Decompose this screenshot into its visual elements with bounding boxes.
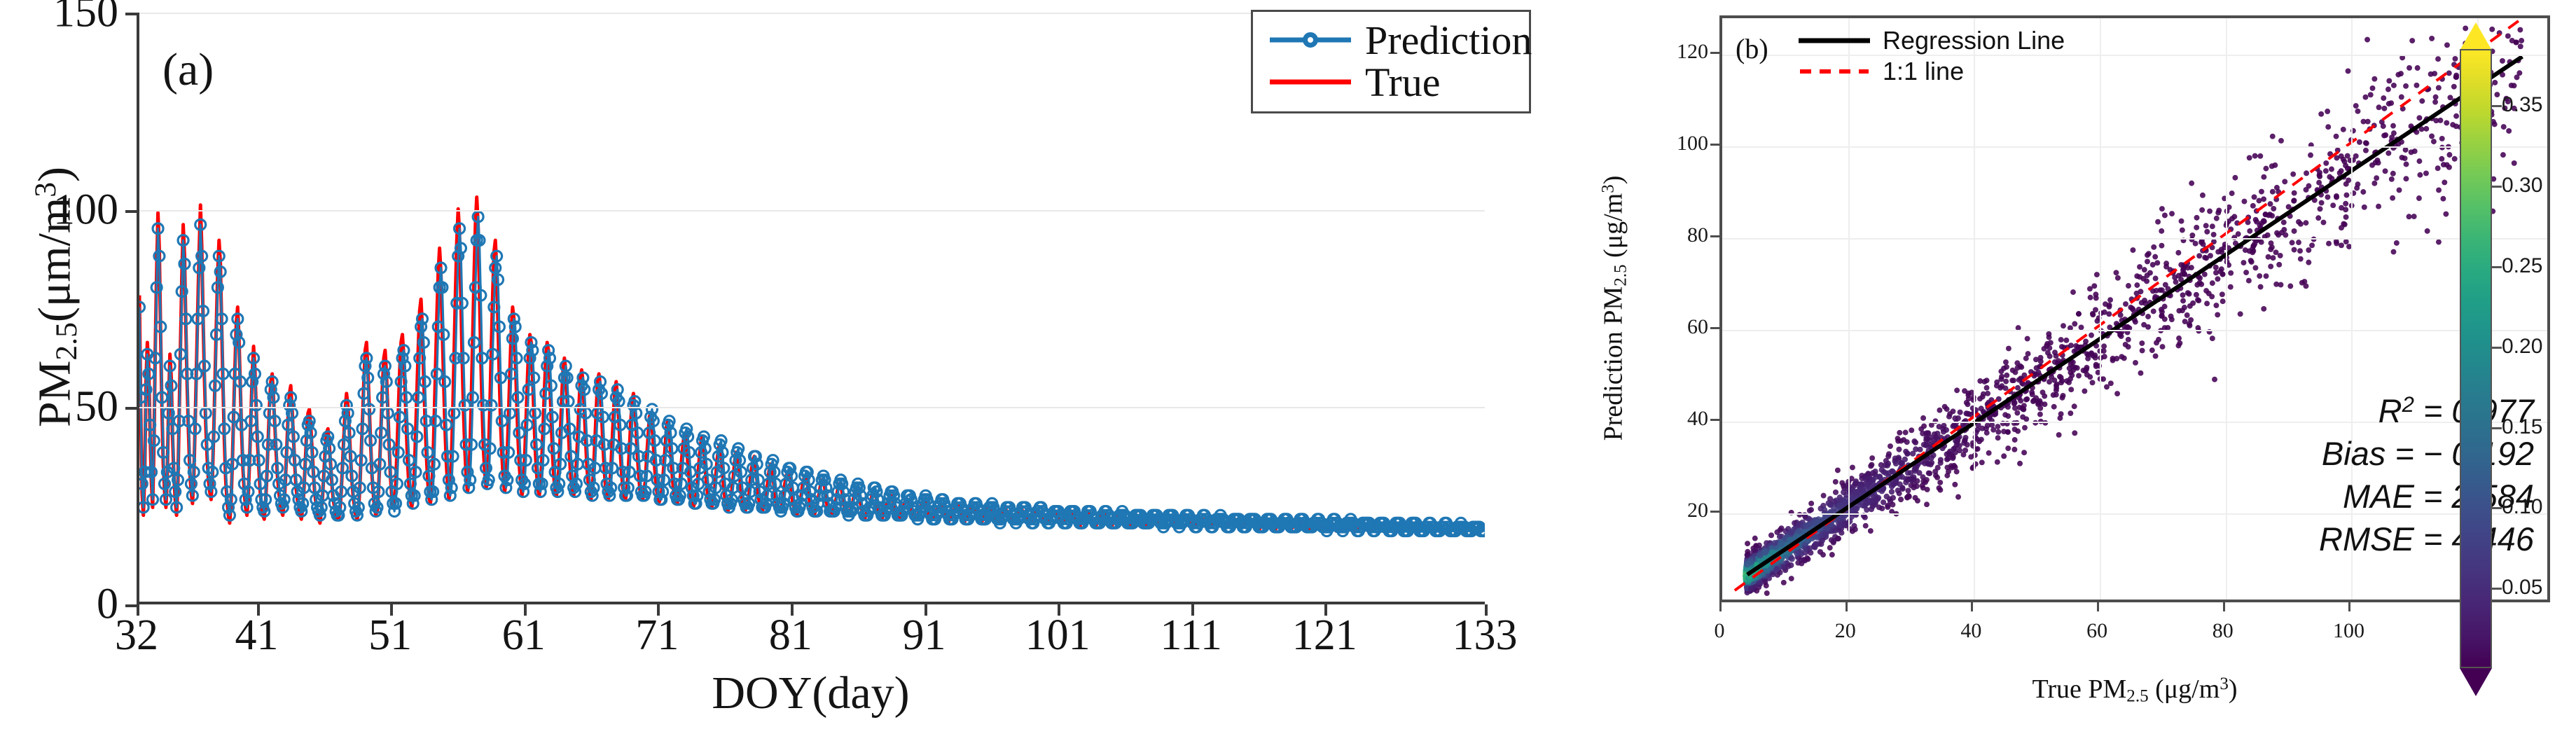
colorbar-tick: 0.25 (2502, 254, 2542, 278)
colorbar-tick: 0.35 (2502, 93, 2542, 117)
colorbar-extend-max (2460, 22, 2492, 50)
panel-b-gridline (1722, 238, 2547, 240)
panel-a-timeseries: 050100150 (a) 32415161718191101111121133… (0, 0, 1548, 748)
panel-b-x-tick-marks (1719, 602, 2550, 611)
panel-b-y-tick: 120 (1677, 40, 1708, 64)
legend-item-regression-line[interactable]: Regression Line (1793, 25, 2065, 56)
panel-a-ylabel-prefix: PM (29, 361, 81, 427)
panel-b-y-tick: 80 (1687, 223, 1708, 247)
panel-b-scatter: 20406080100120 (b) Regression Line (1548, 0, 2576, 748)
figure-root: 050100150 (a) 32415161718191101111121133… (0, 0, 2576, 748)
legend-swatch-prediction (1266, 19, 1355, 61)
panel-b-x-tick: 80 (2213, 619, 2234, 643)
panel-a-tag: (a) (162, 43, 214, 97)
panel-b-xlabel-prefix: True PM (2032, 674, 2126, 704)
colorbar: 0.050.100.150.200.250.300.35 frequency (2460, 22, 2492, 695)
panel-a-x-tick: 51 (368, 611, 412, 660)
panel-b-gridline (1722, 146, 2547, 148)
panel-b-xlabel-close: ) (2229, 674, 2238, 704)
panel-b-ylabel-prefix: Prediction PM (1599, 286, 1628, 441)
panel-b-gridline (1974, 18, 1975, 600)
panel-a-legend[interactable]: Prediction True (1251, 10, 1531, 113)
panel-b-ylabel-unit: (μg/m (1599, 193, 1628, 265)
legend-swatch-one-to-one-line (1793, 56, 1876, 87)
panel-b-y-tick: 60 (1687, 315, 1708, 339)
legend-label-regression-line: Regression Line (1883, 26, 2065, 55)
panel-a-gridline (139, 210, 1485, 212)
panel-b-xlabel-sub: 2.5 (2126, 687, 2148, 706)
panel-a-x-tick: 111 (1160, 611, 1221, 660)
colorbar-tick: 0.05 (2502, 576, 2542, 600)
panel-a-x-tick: 32 (115, 611, 158, 660)
panel-b-gridline (2100, 18, 2101, 600)
series-prediction-markers (139, 212, 1485, 536)
panel-b-legend[interactable]: Regression Line 1:1 line (1793, 25, 2065, 87)
panel-a-x-tick: 81 (769, 611, 812, 660)
panel-b-ylabel-sup: 3 (1599, 184, 1618, 193)
panel-b-y-axis-label: Prediction PM2.5 (μg/m3) (1598, 11, 1631, 606)
panel-a-gridline (139, 407, 1485, 408)
panel-b-ylabel-sub: 2.5 (1611, 264, 1630, 286)
colorbar-tick: 0.20 (2502, 335, 2542, 359)
panel-a-ylabel-sup: 3 (29, 182, 62, 198)
panel-b-x-tick: 40 (1960, 619, 1981, 643)
legend-swatch-regression-line (1793, 25, 1876, 56)
panel-b-y-tick: 20 (1687, 499, 1708, 522)
panel-a-x-tick: 101 (1025, 611, 1090, 660)
panel-b-x-tick: 0 (1715, 619, 1725, 643)
legend-label-true: True (1365, 59, 1440, 106)
panel-b-x-axis-label: True PM2.5 (μg/m3) (1719, 674, 2550, 707)
panel-b-xlabel-sup: 3 (2220, 674, 2229, 693)
panel-b-y-tick: 100 (1677, 132, 1708, 155)
colorbar-tick-labels: 0.050.100.150.200.250.300.35 (2460, 49, 2492, 668)
legend-item-one-to-one-line[interactable]: 1:1 line (1793, 56, 2065, 87)
panel-b-x-tick: 60 (2086, 619, 2107, 643)
legend-item-prediction[interactable]: Prediction (1253, 19, 1529, 61)
panel-a-x-tick: 61 (502, 611, 546, 660)
legend-label-one-to-one-line: 1:1 line (1883, 57, 1964, 86)
panel-b-gridline (2226, 18, 2227, 600)
panel-a-x-tick: 133 (1453, 611, 1518, 660)
panel-a-x-tick: 91 (903, 611, 946, 660)
panel-a-x-tick: 121 (1292, 611, 1357, 660)
panel-b-xlabel-unit: (μg/m (2149, 674, 2220, 704)
panel-a-y-axis-label: PM2.5(μm/m3) (28, 31, 84, 563)
panel-a-x-axis-label: DOY(day) (137, 667, 1485, 720)
legend-item-true[interactable]: True (1253, 61, 1529, 103)
panel-b-gridline (1848, 18, 1850, 600)
colorbar-tick: 0.10 (2502, 495, 2542, 519)
panel-b-y-tick: 40 (1687, 407, 1708, 431)
panel-b-gridline (1722, 330, 2547, 331)
legend-label-prediction: Prediction (1365, 17, 1532, 64)
panel-b-ylabel-close: ) (1599, 176, 1628, 185)
panel-a-x-tick-labels: 32415161718191101111121133 (137, 611, 1485, 660)
colorbar-extend-min (2460, 668, 2492, 696)
stat-rmse: RMSE = 4.446 (2319, 518, 2534, 560)
panel-a-ylabel-close: ) (29, 167, 81, 182)
panel-a-x-tick: 71 (635, 611, 679, 660)
panel-b-tag: (b) (1736, 32, 1768, 65)
panel-b-y-tick-marks (1710, 15, 1719, 602)
panel-b-x-tick-labels: 020406080100120 (1719, 619, 2550, 651)
panel-a-ylabel-unit: (μm/m (29, 198, 81, 322)
panel-b-x-tick: 100 (2333, 619, 2364, 643)
colorbar-tick: 0.30 (2502, 174, 2542, 198)
panel-a-ylabel-sub: 2.5 (50, 322, 83, 360)
panel-b-x-tick: 20 (1835, 619, 1856, 643)
panel-b-y-tick-labels: 20406080100120 (1548, 15, 1719, 602)
colorbar-tick: 0.15 (2502, 415, 2542, 439)
legend-swatch-true (1266, 61, 1355, 103)
panel-a-x-tick: 41 (235, 611, 279, 660)
